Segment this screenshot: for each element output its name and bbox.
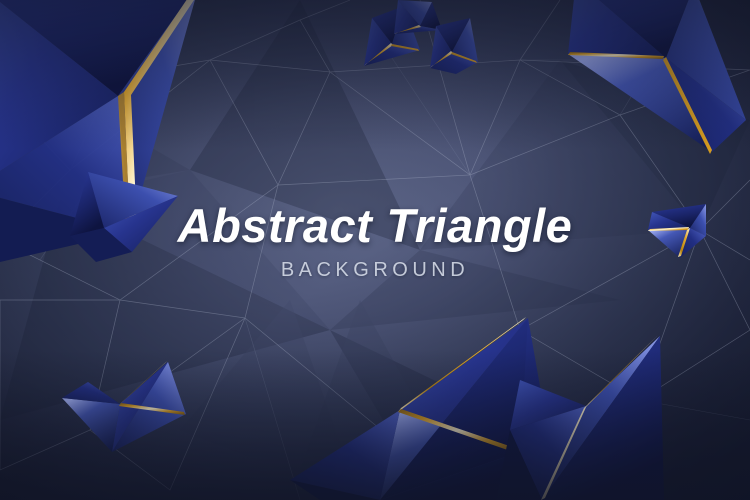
artwork-layer — [0, 0, 750, 500]
poster-canvas: AbstractTriangle BACKGROUND — [0, 0, 750, 500]
